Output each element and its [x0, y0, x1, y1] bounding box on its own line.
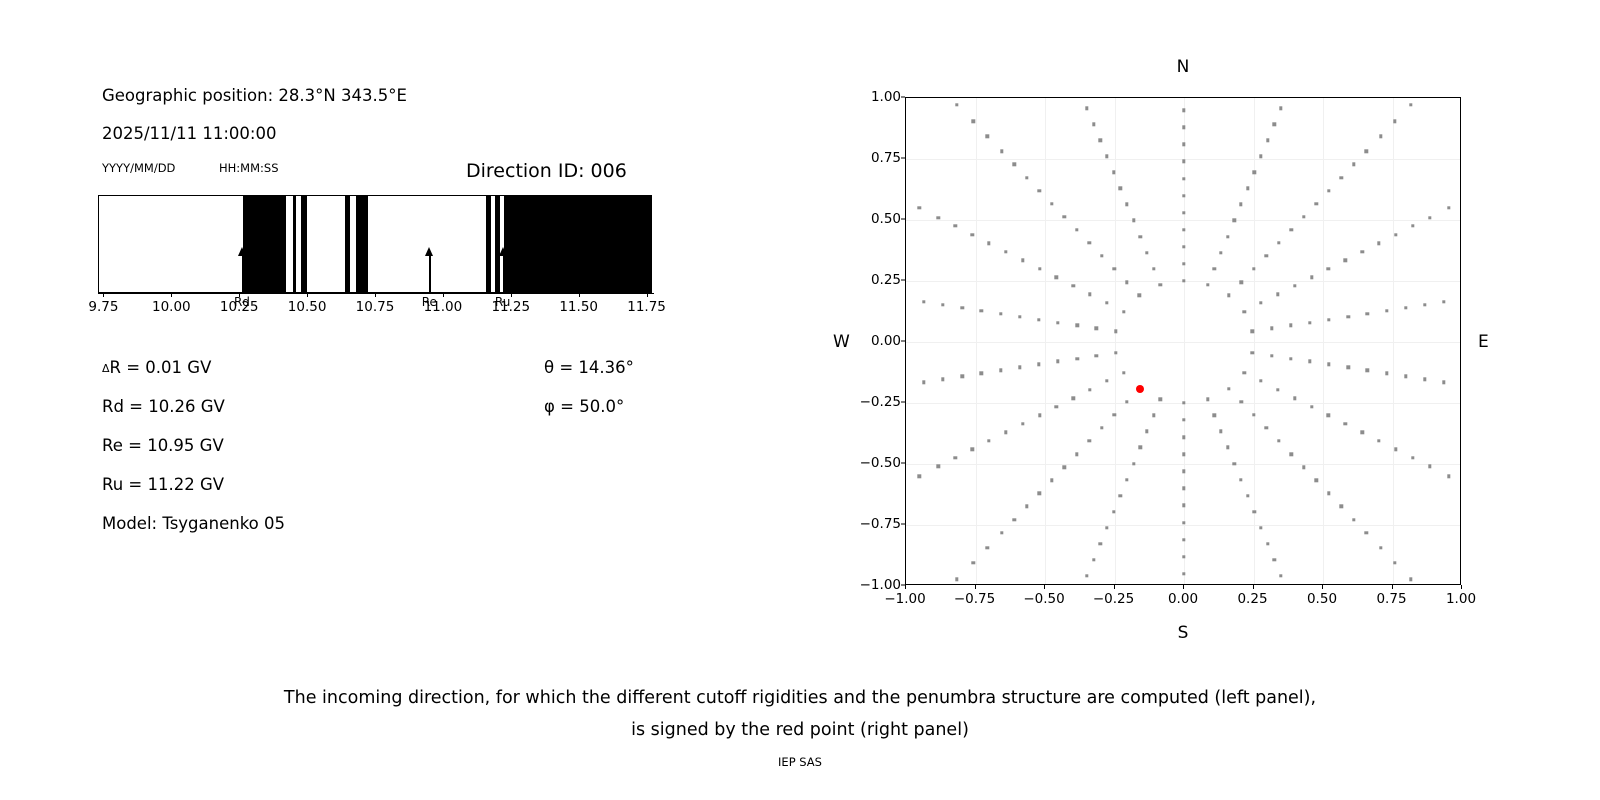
direction-point [1293, 284, 1296, 287]
direction-point [1182, 538, 1185, 541]
direction-point [1182, 555, 1185, 558]
direction-point [1182, 108, 1185, 111]
x-tick-label: 10.50 [288, 299, 327, 315]
arrow-shaft [242, 253, 243, 293]
direction-point [1393, 120, 1396, 123]
direction-point [999, 369, 1002, 372]
direction-point [954, 224, 957, 227]
direction-point [1277, 241, 1280, 244]
direction-point [1038, 189, 1041, 192]
arrow-shaft [503, 253, 504, 293]
direction-point [955, 578, 958, 581]
direction-point [1018, 366, 1021, 369]
x-tick-label: 0.25 [1237, 591, 1267, 607]
delta-r-text: R = 0.01 GV [110, 358, 212, 377]
direction-point [955, 103, 958, 106]
direction-point [1302, 215, 1305, 218]
direction-point [1393, 561, 1396, 564]
penumbra-forbidden-band [504, 196, 652, 292]
penumbra-forbidden-band [356, 196, 368, 292]
direction-point [1105, 155, 1108, 158]
direction-point [1095, 354, 1098, 357]
penumbra-forbidden-band [345, 196, 350, 292]
direction-point [1072, 396, 1075, 399]
direction-point [1289, 357, 1292, 360]
x-tick-mark [579, 293, 580, 297]
theta-value: θ = 14.36° [544, 358, 634, 377]
direction-point [1138, 294, 1141, 297]
direction-point [1276, 293, 1279, 296]
direction-point [1226, 235, 1229, 238]
y-tick-label: 1.00 [871, 89, 901, 105]
direction-point [1159, 398, 1162, 401]
penumbra-x-axis: 9.7510.0010.2510.5010.7511.0011.2511.501… [98, 293, 654, 345]
direction-point [986, 546, 989, 549]
direction-point [1239, 280, 1242, 283]
direction-point [971, 120, 974, 123]
direction-point [1182, 177, 1185, 180]
direction-point [1242, 371, 1245, 374]
right-panel: N S W E −1.00−0.75−0.50−0.250.000.250.50… [760, 0, 1600, 660]
direction-point [1182, 435, 1185, 438]
x-tick-mark [1461, 585, 1462, 589]
direction-point [1327, 318, 1330, 321]
x-tick-mark [1322, 585, 1323, 589]
direction-point [1385, 309, 1388, 312]
direction-point [1037, 318, 1040, 321]
model-value: Model: Tsyganenko 05 [102, 514, 285, 533]
direction-point [1442, 381, 1445, 384]
asymptotic-direction-plot [905, 97, 1461, 585]
x-tick-mark [307, 293, 308, 297]
direction-point [1113, 267, 1116, 270]
direction-point [937, 465, 940, 468]
gridline-vertical [1045, 98, 1046, 584]
x-tick-mark [375, 293, 376, 297]
direction-point [1340, 505, 1343, 508]
direction-point [1409, 578, 1412, 581]
direction-point [1246, 494, 1249, 497]
direction-point [970, 448, 973, 451]
time-format-hint: HH:MM:SS [219, 161, 279, 175]
x-tick-label: −0.75 [954, 591, 995, 607]
direction-point [1125, 203, 1128, 206]
direction-point [1423, 378, 1426, 381]
direction-point [1233, 219, 1236, 222]
direction-point [1038, 492, 1041, 495]
direction-point [970, 233, 973, 236]
direction-point [1385, 372, 1388, 375]
direction-point [1125, 280, 1128, 283]
direction-point [1182, 572, 1185, 575]
direction-point [1273, 558, 1276, 561]
direction-point [1289, 324, 1292, 327]
direction-point [1145, 251, 1148, 254]
direction-point [1251, 330, 1254, 333]
direction-point [961, 375, 964, 378]
re-value: Re = 10.95 GV [102, 436, 224, 455]
direction-point [1246, 187, 1249, 190]
direction-point [1447, 474, 1450, 477]
direction-point [1092, 122, 1095, 125]
direction-point [1182, 194, 1185, 197]
direction-point [987, 439, 990, 442]
direction-point [1182, 487, 1185, 490]
direction-point [1239, 203, 1242, 206]
direction-point [1290, 452, 1293, 455]
caption-line-1: The incoming direction, for which the di… [0, 682, 1600, 714]
y-tick-label: −0.25 [860, 394, 901, 410]
direction-point [1259, 526, 1262, 529]
datetime-text: 2025/11/11 11:00:00 [102, 124, 276, 143]
direction-point [1076, 324, 1079, 327]
penumbra-chart [98, 195, 652, 293]
direction-point [1327, 413, 1330, 416]
direction-point [1377, 241, 1380, 244]
direction-point [1315, 202, 1318, 205]
direction-point [1088, 241, 1091, 244]
x-tick-mark [443, 293, 444, 297]
delta-symbol: Δ [102, 362, 110, 375]
x-tick-mark [1183, 585, 1184, 589]
direction-point [1132, 219, 1135, 222]
gridline-vertical [1393, 98, 1394, 584]
x-tick-label: 11.75 [627, 299, 666, 315]
direction-point [1206, 283, 1209, 286]
direction-point [961, 306, 964, 309]
phi-value: φ = 50.0° [544, 397, 624, 416]
direction-point [1219, 251, 1222, 254]
direction-point [1310, 276, 1313, 279]
direction-point [1050, 479, 1053, 482]
direction-point [922, 300, 925, 303]
direction-point [941, 303, 944, 306]
x-tick-label: 10.75 [356, 299, 395, 315]
direction-point [1085, 106, 1088, 109]
x-tick-label: 0.50 [1307, 591, 1337, 607]
direction-point [917, 474, 920, 477]
direction-point [1360, 250, 1363, 253]
x-tick-label: −0.25 [1093, 591, 1134, 607]
direction-point [1125, 478, 1128, 481]
direction-point [1253, 510, 1256, 513]
direction-point [1308, 321, 1311, 324]
direction-point [1310, 405, 1313, 408]
direction-point [1251, 351, 1254, 354]
direction-point [1182, 228, 1185, 231]
direction-point [1340, 176, 1343, 179]
arrow-label: Ru [495, 295, 510, 309]
y-tick-mark [901, 524, 905, 525]
direction-point [1099, 542, 1102, 545]
arrow-shaft [429, 253, 430, 293]
y-tick-label: −0.50 [860, 455, 901, 471]
direction-point [1233, 462, 1236, 465]
direction-point [1152, 267, 1155, 270]
direction-point [1182, 504, 1185, 507]
direction-point [1270, 354, 1273, 357]
direction-point [1075, 452, 1078, 455]
direction-point [1013, 163, 1016, 166]
y-tick-mark [901, 280, 905, 281]
direction-point [1004, 431, 1007, 434]
direction-point [1112, 510, 1115, 513]
y-tick-mark [901, 97, 905, 98]
y-tick-mark [901, 463, 905, 464]
direction-point [1226, 446, 1229, 449]
direction-point [1056, 360, 1059, 363]
direction-id-label: Direction ID: 006 [466, 160, 627, 182]
penumbra-forbidden-band [495, 196, 499, 292]
x-tick-label: 0.75 [1376, 591, 1406, 607]
direction-point [1409, 103, 1412, 106]
caption-line-2: is signed by the red point (right panel) [0, 714, 1600, 746]
direction-point [1253, 171, 1256, 174]
direction-point [1227, 387, 1230, 390]
direction-point [1327, 492, 1330, 495]
direction-point [1182, 211, 1185, 214]
direction-point [1428, 465, 1431, 468]
direction-point [1025, 505, 1028, 508]
direction-point [1088, 388, 1091, 391]
compass-south-label: S [1178, 623, 1189, 643]
x-tick-label: 10.00 [152, 299, 191, 315]
x-tick-mark [975, 585, 976, 589]
direction-point [1182, 470, 1185, 473]
direction-point [1100, 254, 1103, 257]
x-tick-label: 11.50 [559, 299, 598, 315]
direction-point [1114, 351, 1117, 354]
direction-point [1075, 228, 1078, 231]
direction-point [1266, 542, 1269, 545]
x-tick-mark [171, 293, 172, 297]
direction-point [1394, 233, 1397, 236]
direction-point [1139, 446, 1142, 449]
footer-credit: IEP SAS [0, 755, 1600, 769]
direction-point [1366, 369, 1369, 372]
x-tick-label: −1.00 [884, 591, 925, 607]
direction-point [1447, 206, 1450, 209]
direction-point [1095, 327, 1098, 330]
direction-point [1063, 215, 1066, 218]
direction-point [1352, 163, 1355, 166]
direction-point [986, 135, 989, 138]
x-tick-mark [103, 293, 104, 297]
direction-point [1050, 202, 1053, 205]
direction-point [1379, 135, 1382, 138]
direction-point [980, 372, 983, 375]
compass-east-label: E [1478, 332, 1489, 352]
direction-point [1113, 413, 1116, 416]
x-tick-label: −0.50 [1023, 591, 1064, 607]
direction-point [1182, 160, 1185, 163]
direction-point [1327, 267, 1330, 270]
direction-point [1038, 413, 1041, 416]
direction-point [1277, 439, 1280, 442]
compass-north-label: N [1177, 57, 1190, 77]
date-format-hint: YYYY/MM/DD [102, 161, 175, 175]
direction-point [1266, 139, 1269, 142]
direction-point [1279, 574, 1282, 577]
direction-point [1242, 310, 1245, 313]
direction-point [1213, 267, 1216, 270]
ru-value: Ru = 11.22 GV [102, 475, 224, 494]
direction-point [1276, 388, 1279, 391]
direction-point [1344, 422, 1347, 425]
compass-west-label: W [833, 332, 850, 352]
direction-point [1139, 235, 1142, 238]
direction-point [1290, 228, 1293, 231]
direction-point [1105, 379, 1108, 382]
direction-point [1119, 494, 1122, 497]
direction-point [1252, 413, 1255, 416]
direction-point [1293, 396, 1296, 399]
direction-point [1360, 431, 1363, 434]
direction-point [1308, 360, 1311, 363]
direction-point [1213, 414, 1216, 417]
y-tick-label: −0.75 [860, 516, 901, 532]
direction-point [980, 309, 983, 312]
gridline-horizontal [906, 464, 1460, 465]
penumbra-forbidden-band [301, 196, 306, 292]
direction-point [937, 216, 940, 219]
gridline-vertical [1323, 98, 1324, 584]
direction-point [1182, 418, 1185, 421]
direction-point [1270, 327, 1273, 330]
direction-point [1347, 366, 1350, 369]
geographic-position-text: Geographic position: 28.3°N 343.5°E [102, 86, 407, 105]
direction-point [1365, 531, 1368, 534]
direction-point [1344, 259, 1347, 262]
direction-point [1182, 521, 1185, 524]
x-tick-mark [511, 293, 512, 297]
highlight-red-point [1136, 385, 1144, 393]
x-tick-label: 1.00 [1446, 591, 1476, 607]
direction-point [1055, 276, 1058, 279]
y-tick-label: 0.75 [871, 150, 901, 166]
y-tick-mark [901, 402, 905, 403]
direction-point [954, 456, 957, 459]
x-tick-mark [1114, 585, 1115, 589]
direction-point [1105, 526, 1108, 529]
direction-point [1442, 300, 1445, 303]
direction-point [1182, 245, 1185, 248]
direction-point [1000, 150, 1003, 153]
direction-point [1259, 301, 1262, 304]
x-tick-mark [1253, 585, 1254, 589]
direction-point [1114, 330, 1117, 333]
direction-point [1182, 279, 1185, 282]
direction-point [1132, 462, 1135, 465]
y-tick-label: 0.50 [871, 211, 901, 227]
direction-point [1088, 439, 1091, 442]
direction-point [1264, 426, 1267, 429]
direction-point [1252, 267, 1255, 270]
direction-point [1037, 363, 1040, 366]
direction-point [1227, 294, 1230, 297]
y-tick-mark [901, 219, 905, 220]
direction-point [1085, 574, 1088, 577]
penumbra-forbidden-band [243, 196, 286, 292]
direction-point [1377, 439, 1380, 442]
direction-point [1365, 150, 1368, 153]
direction-point [1411, 224, 1414, 227]
direction-point [1018, 315, 1021, 318]
delta-r-value: ΔR = 0.01 GV [102, 358, 211, 377]
direction-point [1315, 479, 1318, 482]
direction-point [1021, 259, 1024, 262]
direction-point [1182, 126, 1185, 129]
direction-point [1088, 293, 1091, 296]
gridline-vertical [976, 98, 977, 584]
direction-point [1159, 283, 1162, 286]
figure-caption: The incoming direction, for which the di… [0, 682, 1600, 746]
direction-point [1021, 422, 1024, 425]
direction-point [1025, 176, 1028, 179]
penumbra-forbidden-band [486, 196, 491, 292]
direction-point [1239, 400, 1242, 403]
direction-point [999, 312, 1002, 315]
gridline-horizontal [906, 525, 1460, 526]
direction-point [1182, 453, 1185, 456]
direction-point [1038, 267, 1041, 270]
direction-point [1239, 478, 1242, 481]
gridline-vertical [1184, 98, 1185, 584]
direction-point [1122, 371, 1125, 374]
direction-point [1076, 357, 1079, 360]
direction-point [1055, 405, 1058, 408]
direction-point [1004, 250, 1007, 253]
arrow-label: Re [422, 295, 437, 309]
direction-point [971, 561, 974, 564]
direction-point [1219, 430, 1222, 433]
direction-point [1327, 189, 1330, 192]
direction-point [1063, 466, 1066, 469]
gridline-horizontal [906, 342, 1460, 343]
direction-point [1206, 398, 1209, 401]
direction-point [1366, 312, 1369, 315]
direction-point [1145, 430, 1148, 433]
direction-point [1423, 303, 1426, 306]
direction-point [987, 241, 990, 244]
direction-point [1182, 143, 1185, 146]
direction-point [1327, 363, 1330, 366]
axis-line [98, 293, 654, 294]
direction-point [1000, 531, 1003, 534]
direction-point [1152, 414, 1155, 417]
direction-point [1279, 106, 1282, 109]
direction-point [1273, 122, 1276, 125]
direction-point [1100, 426, 1103, 429]
rd-value: Rd = 10.26 GV [102, 397, 225, 416]
x-tick-mark [647, 293, 648, 297]
direction-point [1347, 315, 1350, 318]
x-tick-mark [1044, 585, 1045, 589]
y-tick-mark [901, 341, 905, 342]
direction-point [1072, 284, 1075, 287]
direction-point [1404, 306, 1407, 309]
direction-point [1259, 155, 1262, 158]
direction-point [1264, 254, 1267, 257]
x-tick-mark [1392, 585, 1393, 589]
x-tick-mark [905, 585, 906, 589]
penumbra-bar [98, 195, 652, 293]
direction-point [922, 381, 925, 384]
direction-point [1259, 379, 1262, 382]
direction-point [1092, 558, 1095, 561]
y-tick-label: 0.25 [871, 272, 901, 288]
arrow-label: Rd [234, 295, 250, 309]
